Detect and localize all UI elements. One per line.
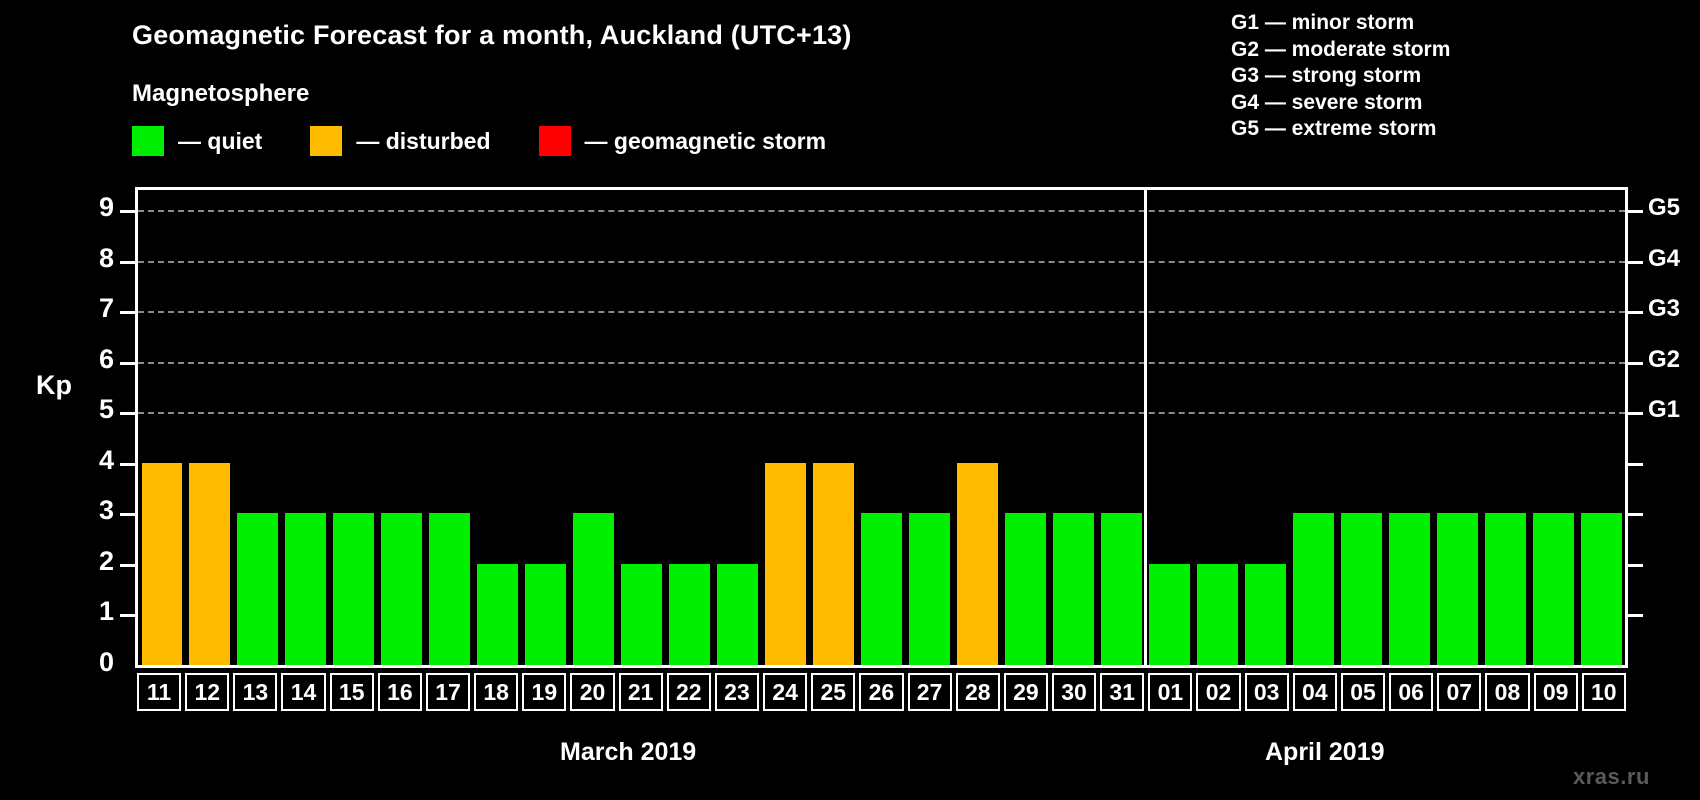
- date-cell-22[interactable]: 22: [665, 672, 713, 712]
- g-scale-line-4: G4 — severe storm: [1231, 90, 1450, 117]
- month-label-second: April 2019: [1265, 738, 1385, 767]
- date-label-31: 31: [1100, 673, 1144, 711]
- bar-cell-29[interactable]: [1001, 190, 1049, 665]
- right-tick-mark-5: [1628, 412, 1643, 415]
- bar-cell-25[interactable]: [810, 190, 858, 665]
- legend-item-label: — quiet: [178, 128, 262, 155]
- y-tick-label-2: 2: [74, 546, 114, 577]
- date-cell-10[interactable]: 10: [1580, 672, 1628, 712]
- bar-12-kp4-disturbed[interactable]: [189, 463, 230, 665]
- bar-17-kp3-quiet[interactable]: [429, 513, 470, 665]
- month-divider: [1144, 190, 1147, 665]
- legend-item-label: — disturbed: [356, 128, 490, 155]
- bar-cell-15[interactable]: [330, 190, 378, 665]
- date-label-24: 24: [763, 673, 807, 711]
- g-tick-label-G4: G4: [1648, 245, 1680, 273]
- bar-cell-20[interactable]: [570, 190, 618, 665]
- bar-cell-05[interactable]: [1337, 190, 1385, 665]
- date-cell-01[interactable]: 01: [1146, 672, 1194, 712]
- y-tick-label-0: 0: [74, 647, 114, 678]
- page-title: Geomagnetic Forecast for a month, Auckla…: [132, 20, 852, 51]
- bar-cell-11[interactable]: [138, 190, 186, 665]
- bar-series: [138, 190, 1625, 665]
- y-tick-label-9: 9: [74, 192, 114, 223]
- bar-04-kp3-quiet[interactable]: [1293, 513, 1334, 665]
- bar-cell-30[interactable]: [1049, 190, 1097, 665]
- bar-cell-04[interactable]: [1289, 190, 1337, 665]
- date-cell-20[interactable]: 20: [568, 672, 616, 712]
- bar-15-kp3-quiet[interactable]: [333, 513, 374, 665]
- g-scale-line-1: G1 — minor storm: [1231, 10, 1450, 37]
- date-cell-24[interactable]: 24: [761, 672, 809, 712]
- date-cell-09[interactable]: 09: [1532, 672, 1580, 712]
- bar-13-kp3-quiet[interactable]: [237, 513, 278, 665]
- bar-21-kp2-quiet[interactable]: [621, 564, 662, 665]
- watermark: xras.ru: [1573, 764, 1650, 790]
- bar-30-kp3-quiet[interactable]: [1053, 513, 1094, 665]
- date-label-06: 06: [1389, 673, 1433, 711]
- date-cell-04[interactable]: 04: [1291, 672, 1339, 712]
- bar-20-kp3-quiet[interactable]: [573, 513, 614, 665]
- g-tick-label-G2: G2: [1648, 346, 1680, 374]
- y-tick-mark-3: [120, 513, 135, 516]
- bar-cell-03[interactable]: [1241, 190, 1289, 665]
- date-label-10: 10: [1582, 673, 1626, 711]
- y-axis-title: Kp: [36, 370, 72, 401]
- bar-09-kp3-quiet[interactable]: [1533, 513, 1574, 665]
- date-cell-16[interactable]: 16: [376, 672, 424, 712]
- red-swatch: [539, 126, 571, 156]
- date-label-13: 13: [233, 673, 277, 711]
- date-cell-18[interactable]: 18: [472, 672, 520, 712]
- right-tick-mark-8: [1628, 261, 1643, 264]
- bar-cell-21[interactable]: [618, 190, 666, 665]
- bar-cell-28[interactable]: [953, 190, 1001, 665]
- date-label-27: 27: [908, 673, 952, 711]
- bar-cell-14[interactable]: [282, 190, 330, 665]
- bar-cell-23[interactable]: [714, 190, 762, 665]
- y-tick-label-4: 4: [74, 445, 114, 476]
- bar-03-kp2-quiet[interactable]: [1245, 564, 1286, 665]
- date-cell-17[interactable]: 17: [424, 672, 472, 712]
- y-tick-mark-5: [120, 412, 135, 415]
- g-scale-line-2: G2 — moderate storm: [1231, 37, 1450, 64]
- date-label-02: 02: [1196, 673, 1240, 711]
- date-cell-07[interactable]: 07: [1435, 672, 1483, 712]
- bar-29-kp3-quiet[interactable]: [1005, 513, 1046, 665]
- date-cell-29[interactable]: 29: [1002, 672, 1050, 712]
- g-tick-label-G5: G5: [1648, 194, 1680, 222]
- date-label-01: 01: [1148, 673, 1192, 711]
- bar-cell-08[interactable]: [1481, 190, 1529, 665]
- bar-23-kp2-quiet[interactable]: [717, 564, 758, 665]
- bar-06-kp3-quiet[interactable]: [1389, 513, 1430, 665]
- bar-cell-12[interactable]: [186, 190, 234, 665]
- bar-cell-13[interactable]: [234, 190, 282, 665]
- date-label-22: 22: [667, 673, 711, 711]
- date-label-08: 08: [1485, 673, 1529, 711]
- bar-cell-31[interactable]: [1097, 190, 1145, 665]
- bar-05-kp3-quiet[interactable]: [1341, 513, 1382, 665]
- y-tick-mark-2: [120, 564, 135, 567]
- bar-cell-26[interactable]: [858, 190, 906, 665]
- bar-11-kp4-disturbed[interactable]: [142, 463, 183, 665]
- y-tick-mark-8: [120, 261, 135, 264]
- date-label-14: 14: [281, 673, 325, 711]
- bar-02-kp2-quiet[interactable]: [1197, 564, 1238, 665]
- bar-cell-10[interactable]: [1577, 190, 1625, 665]
- date-label-12: 12: [185, 673, 229, 711]
- y-tick-mark-9: [120, 210, 135, 213]
- date-label-19: 19: [522, 673, 566, 711]
- bar-cell-07[interactable]: [1433, 190, 1481, 665]
- bar-31-kp3-quiet[interactable]: [1101, 513, 1142, 665]
- date-label-04: 04: [1293, 673, 1337, 711]
- date-cell-27[interactable]: 27: [906, 672, 954, 712]
- y-tick-mark-1: [120, 614, 135, 617]
- date-label-23: 23: [715, 673, 759, 711]
- right-tick-mark-9: [1628, 210, 1643, 213]
- y-tick-label-8: 8: [74, 243, 114, 274]
- date-label-26: 26: [859, 673, 903, 711]
- date-cell-06[interactable]: 06: [1387, 672, 1435, 712]
- date-label-29: 29: [1004, 673, 1048, 711]
- legend-item-1: — disturbed: [310, 126, 490, 156]
- bar-cell-27[interactable]: [906, 190, 954, 665]
- date-cell-21[interactable]: 21: [617, 672, 665, 712]
- right-tick-mark-7: [1628, 311, 1643, 314]
- bar-22-kp2-quiet[interactable]: [669, 564, 710, 665]
- date-label-30: 30: [1052, 673, 1096, 711]
- legend-item-0: — quiet: [132, 126, 262, 156]
- bar-cell-18[interactable]: [474, 190, 522, 665]
- date-cell-30[interactable]: 30: [1050, 672, 1098, 712]
- bar-25-kp4-disturbed[interactable]: [813, 463, 854, 665]
- green-swatch: [132, 126, 164, 156]
- date-cell-28[interactable]: 28: [954, 672, 1002, 712]
- plot-area: [135, 187, 1628, 668]
- date-label-17: 17: [426, 673, 470, 711]
- y-tick-mark-4: [120, 463, 135, 466]
- magnetosphere-label: Magnetosphere: [132, 80, 309, 108]
- date-cell-25[interactable]: 25: [809, 672, 857, 712]
- bar-cell-22[interactable]: [666, 190, 714, 665]
- date-cell-15[interactable]: 15: [328, 672, 376, 712]
- bar-08-kp3-quiet[interactable]: [1485, 513, 1526, 665]
- date-label-16: 16: [378, 673, 422, 711]
- bar-10-kp3-quiet[interactable]: [1581, 513, 1622, 665]
- g-scale-legend: G1 — minor stormG2 — moderate stormG3 — …: [1231, 10, 1450, 143]
- date-cell-23[interactable]: 23: [713, 672, 761, 712]
- bar-cell-17[interactable]: [426, 190, 474, 665]
- bar-cell-24[interactable]: [762, 190, 810, 665]
- y-tick-mark-7: [120, 311, 135, 314]
- bar-19-kp2-quiet[interactable]: [525, 564, 566, 665]
- bar-01-kp2-quiet[interactable]: [1149, 564, 1190, 665]
- bar-27-kp3-quiet[interactable]: [909, 513, 950, 665]
- date-cell-05[interactable]: 05: [1339, 672, 1387, 712]
- date-label-03: 03: [1245, 673, 1289, 711]
- right-tick-mark-1: [1628, 614, 1643, 617]
- y-tick-label-7: 7: [74, 293, 114, 324]
- date-cell-31[interactable]: 31: [1098, 672, 1146, 712]
- bar-cell-16[interactable]: [378, 190, 426, 665]
- legend: — quiet— disturbed— geomagnetic storm: [132, 126, 874, 156]
- bar-cell-02[interactable]: [1193, 190, 1241, 665]
- bar-28-kp4-disturbed[interactable]: [957, 463, 998, 665]
- date-label-21: 21: [619, 673, 663, 711]
- bar-cell-09[interactable]: [1529, 190, 1577, 665]
- y-tick-label-3: 3: [74, 495, 114, 526]
- date-label-09: 09: [1534, 673, 1578, 711]
- date-axis: 1112131415161718192021222324252627282930…: [135, 672, 1628, 712]
- geomagnetic-forecast-chart: Geomagnetic Forecast for a month, Auckla…: [0, 0, 1700, 800]
- right-tick-mark-2: [1628, 564, 1643, 567]
- y-tick-label-6: 6: [74, 344, 114, 375]
- date-cell-13[interactable]: 13: [231, 672, 279, 712]
- bar-16-kp3-quiet[interactable]: [381, 513, 422, 665]
- date-cell-02[interactable]: 02: [1194, 672, 1242, 712]
- date-label-07: 07: [1437, 673, 1481, 711]
- orange-swatch: [310, 126, 342, 156]
- date-cell-26[interactable]: 26: [857, 672, 905, 712]
- date-label-11: 11: [137, 673, 181, 711]
- g-tick-label-G3: G3: [1648, 295, 1680, 323]
- g-scale-line-5: G5 — extreme storm: [1231, 116, 1450, 143]
- date-label-20: 20: [570, 673, 614, 711]
- date-label-25: 25: [811, 673, 855, 711]
- date-label-05: 05: [1341, 673, 1385, 711]
- bar-14-kp3-quiet[interactable]: [285, 513, 326, 665]
- bar-07-kp3-quiet[interactable]: [1437, 513, 1478, 665]
- date-cell-14[interactable]: 14: [279, 672, 327, 712]
- date-label-28: 28: [956, 673, 1000, 711]
- g-tick-label-G1: G1: [1648, 396, 1680, 424]
- date-cell-08[interactable]: 08: [1483, 672, 1531, 712]
- bar-cell-06[interactable]: [1385, 190, 1433, 665]
- date-cell-11[interactable]: 11: [135, 672, 183, 712]
- legend-item-label: — geomagnetic storm: [585, 128, 827, 155]
- date-cell-12[interactable]: 12: [183, 672, 231, 712]
- date-cell-03[interactable]: 03: [1243, 672, 1291, 712]
- right-tick-mark-4: [1628, 463, 1643, 466]
- y-tick-label-1: 1: [74, 596, 114, 627]
- bar-cell-19[interactable]: [522, 190, 570, 665]
- bar-24-kp4-disturbed[interactable]: [765, 463, 806, 665]
- date-label-15: 15: [330, 673, 374, 711]
- bar-18-kp2-quiet[interactable]: [477, 564, 518, 665]
- month-label-first: March 2019: [560, 738, 696, 767]
- right-tick-mark-3: [1628, 513, 1643, 516]
- y-tick-mark-6: [120, 362, 135, 365]
- date-label-18: 18: [474, 673, 518, 711]
- bar-26-kp3-quiet[interactable]: [861, 513, 902, 665]
- bar-cell-01[interactable]: [1145, 190, 1193, 665]
- g-scale-line-3: G3 — strong storm: [1231, 63, 1450, 90]
- date-cell-19[interactable]: 19: [520, 672, 568, 712]
- right-tick-mark-6: [1628, 362, 1643, 365]
- y-tick-label-5: 5: [74, 394, 114, 425]
- legend-item-2: — geomagnetic storm: [539, 126, 827, 156]
